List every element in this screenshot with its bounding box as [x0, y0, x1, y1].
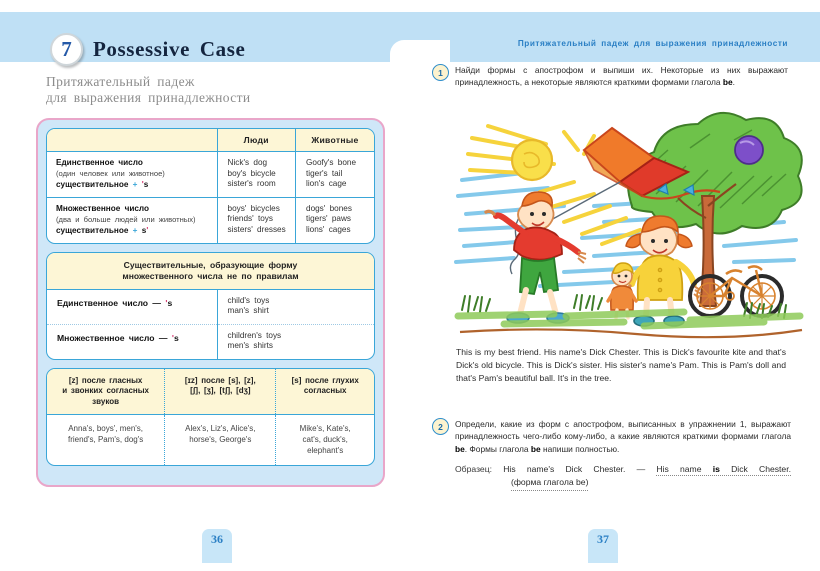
phon-head-line-2: согласных [304, 386, 347, 395]
chapter-header: 7 Possessive Case Притяжательный падеж д… [0, 12, 820, 62]
phon-head-line-2: и звонких согласных [62, 386, 149, 395]
exercise-1-text-part2: . [733, 77, 735, 87]
examples-animals-plural: dogs' bones tigers' paws lions' cages [296, 197, 374, 242]
exercise-1-keyword: be [723, 77, 733, 87]
example-item: tigers' paws [306, 214, 368, 225]
label-text: Единственное число — [57, 298, 161, 308]
examples-people-singular: Nick's dog boy's bicycle sister's room [217, 152, 295, 198]
sample-answer-note: (форма глагола be) [511, 476, 588, 491]
example-item: child's toys [228, 296, 368, 307]
subtitle-line-1: Притяжательный падеж [46, 74, 195, 89]
phon-head-line-2: [ʃ], [ʒ], [tʃ], [dʒ] [190, 386, 250, 395]
example-item: Mike's, Kate's, [281, 423, 369, 434]
example-item: sisters' dresses [228, 225, 289, 236]
examples-people-plural: boys' bicycles friends' toys sisters' dr… [217, 197, 295, 242]
exercise-2: 2 Определи, какие из форм с апострофом, … [432, 418, 792, 491]
rule-singular-title: Единственное число [56, 158, 210, 167]
example-item: lion's cage [306, 179, 368, 190]
label-text: Множественное число — [57, 333, 168, 343]
example-item: cat's, duck's, [281, 434, 369, 445]
chapter-title: Possessive Case [93, 37, 245, 62]
textbook-spread: 7 Possessive Case Притяжательный падеж д… [0, 0, 820, 571]
example-item: friend's, Pam's, dog's [52, 434, 159, 445]
phon-examples-s: Mike's, Kate's, cat's, duck's, elephant'… [276, 415, 374, 466]
example-item: lions' cages [306, 225, 368, 236]
irregular-singular-label: Единственное число — 's [47, 289, 217, 324]
page-number-left: 36 [202, 529, 232, 563]
phon-examples-z: Anna's, boys', men's, friend's, Pam's, d… [47, 415, 165, 466]
rule-plural: Множественное число (два и больше людей … [47, 197, 217, 242]
formula-plus: + [133, 226, 138, 235]
header-blank-cell [47, 129, 217, 152]
irregular-heading-line-2: множественного числа не по правилам [122, 271, 298, 281]
exercise-1-number: 1 [432, 64, 449, 81]
sample-answer-part2: Dick Chester. [720, 464, 791, 474]
irregular-heading: Существительные, образующие форму множес… [47, 253, 374, 289]
page-subtitle: Притяжательный падеж для выражения прина… [46, 74, 251, 106]
example-item: horse's, George's [170, 434, 270, 445]
exercise-1-text: Найди формы с апострофом и выпиши их. Не… [455, 64, 788, 89]
phon-head-iz: [ɪz] после [s], [z], [ʃ], [ʒ], [tʃ], [dʒ… [165, 369, 276, 415]
irregular-heading-line-1: Существительные, образующие форму [124, 260, 298, 270]
right-page: 1 Найди формы с апострофом и выпиши их. … [410, 62, 820, 571]
exercise-1: 1 Найди формы с апострофом и выпиши их. … [432, 64, 790, 89]
rule-plural-note: (два и больше людей или животных) [56, 215, 210, 224]
header-people: Люди [217, 129, 295, 152]
header-animals: Животные [296, 129, 374, 152]
example-item: boys' bicycles [228, 204, 289, 215]
exercise-2-number: 2 [432, 418, 449, 435]
phon-head-line-1: [s] после глухих [292, 376, 359, 385]
ending-s: s [174, 333, 179, 343]
tree-trunk [700, 196, 716, 306]
irregular-plurals-table: Существительные, образующие форму множес… [46, 252, 375, 360]
phon-head-z: [z] после гласных и звонких согласных зв… [47, 369, 165, 415]
example-item: Nick's dog [228, 158, 289, 169]
sample-answer: His name is Dick Chester. [656, 464, 791, 476]
exercise-2-keyword-2: be [531, 444, 541, 454]
sample-label: Образец: [455, 464, 492, 474]
exercise-2-text: Определи, какие из форм с апострофом, вы… [455, 418, 791, 491]
example-item: Anna's, boys', men's, [52, 423, 159, 434]
table-row: Anna's, boys', men's, friend's, Pam's, d… [47, 415, 374, 466]
formula-noun: существительное [56, 226, 128, 235]
table-row: Единственное число (один человек или жив… [47, 152, 374, 198]
rule-singular-note: (один человек или животное) [56, 169, 210, 178]
phon-head-line-3: звуков [92, 397, 119, 406]
story-text: This is my best friend. His name's Dick … [456, 346, 786, 385]
sun [512, 140, 552, 180]
grammar-frame: Люди Животные Единственное число (один ч… [36, 118, 385, 487]
table-row: Множественное число — 's children's toys… [47, 324, 374, 359]
table-row: Единственное число — 's child's toys man… [47, 289, 374, 324]
ending-s: s [167, 298, 172, 308]
possessive-main-table: Люди Животные Единственное число (один ч… [46, 128, 375, 244]
formula-noun: существительное [56, 180, 128, 189]
example-item: tiger's tail [306, 169, 368, 180]
example-item: Alex's, Liz's, Alice's, [170, 423, 270, 434]
exercise-2-text-part3: напиши полностью. [541, 444, 620, 454]
example-item: sister's room [228, 179, 289, 190]
phon-head-line-1: [ɪz] после [s], [z], [185, 376, 256, 385]
exercise-2-text-part2: . Формы глагола [465, 444, 531, 454]
sample-answer-verb: is [713, 464, 720, 474]
example-item: men's shirts [228, 341, 368, 352]
rule-plural-formula: существительное + s' [56, 226, 210, 235]
pronunciation-table: [z] после гласных и звонких согласных зв… [46, 368, 375, 467]
example-item: friends' toys [228, 214, 289, 225]
table-header-row: Люди Животные [47, 129, 374, 152]
rule-singular: Единственное число (один человек или жив… [47, 152, 217, 198]
ground-line [460, 329, 802, 337]
example-item: boy's bicycle [228, 169, 289, 180]
phon-head-line-1: [z] после гласных [69, 376, 143, 385]
exercise-2-keyword-1: be [455, 444, 465, 454]
left-page: Притяжательный падеж для выражения прина… [0, 62, 410, 571]
rule-plural-title: Множественное число [56, 204, 210, 213]
purple-ball [735, 136, 763, 164]
exercise-2-sample: Образец: His name's Dick Chester. — His … [455, 463, 791, 491]
sample-given: His name's Dick Chester. — [503, 464, 645, 474]
irregular-plural-examples: children's toys men's shirts [217, 324, 374, 359]
sample-answer-part1: His name [656, 464, 712, 474]
table-row: Множественное число (два и больше людей … [47, 197, 374, 242]
example-item: elephant's [281, 445, 369, 456]
bicycle-seat [726, 270, 742, 274]
examples-animals-singular: Goofy's bone tiger's tail lion's cage [296, 152, 374, 198]
example-item: man's shirt [228, 306, 368, 317]
example-item: Goofy's bone [306, 158, 368, 169]
phon-examples-iz: Alex's, Liz's, Alice's, horse's, George'… [165, 415, 276, 466]
irregular-singular-examples: child's toys man's shirt [217, 289, 374, 324]
illustration-children-playing [444, 110, 816, 342]
example-item: children's toys [228, 331, 368, 342]
example-item: dogs' bones [306, 204, 368, 215]
exercise-1-text-part1: Найди формы с апострофом и выпиши их. Не… [455, 65, 788, 87]
subtitle-line-2: для выражения принадлежности [46, 90, 251, 105]
formula-apostrophe: ' [146, 226, 148, 235]
girl-pigtail [678, 234, 692, 248]
phon-head-s: [s] после глухих согласных [276, 369, 374, 415]
table-header-row: [z] после гласных и звонких согласных зв… [47, 369, 374, 415]
formula-plus: + [133, 180, 138, 189]
page-number-right: 37 [588, 529, 618, 563]
irregular-plural-label: Множественное число — 's [47, 324, 217, 359]
formula-s: s [144, 180, 149, 189]
running-head: Притяжательный падеж для выражения прина… [518, 39, 788, 48]
rule-singular-formula: существительное + 's [56, 180, 210, 189]
exercise-2-text-part1: Определи, какие из форм с апострофом, вы… [455, 419, 791, 441]
